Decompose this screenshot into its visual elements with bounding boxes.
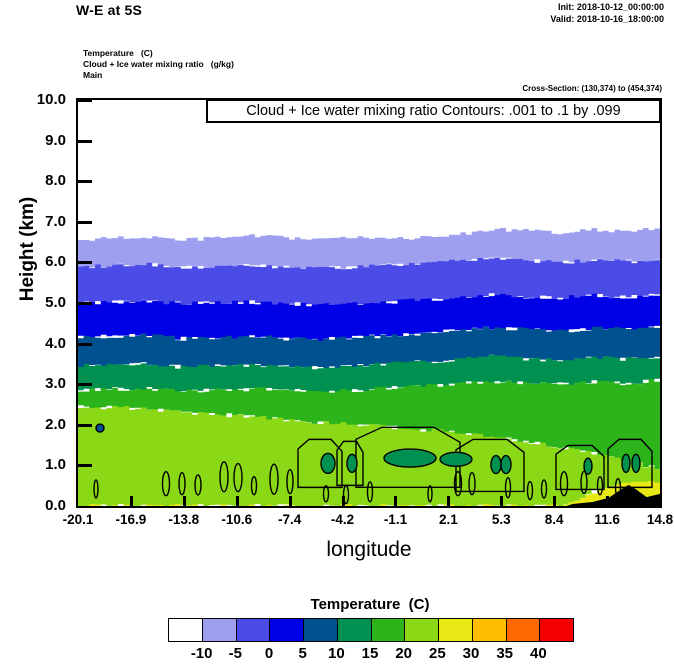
- y-tick-mark: [78, 180, 92, 183]
- cross-section-label: Cross-Section: (130,374) to (454,374): [522, 84, 662, 93]
- x-tick-label: -13.8: [154, 512, 214, 527]
- x-tick-label: 11.6: [577, 512, 637, 527]
- cloud-contour: [440, 452, 472, 466]
- x-tick-label: 14.8: [630, 512, 674, 527]
- y-tick-label: 6.0: [6, 254, 66, 269]
- y-tick-mark: [78, 383, 92, 386]
- contour-title-text: Cloud + Ice water mixing ratio Contours:…: [246, 103, 620, 119]
- y-tick-label: 2.0: [6, 417, 66, 432]
- cloud-contour: [491, 456, 501, 474]
- y-tick-mark: [78, 343, 92, 346]
- colorbar-swatch: [304, 619, 338, 641]
- colorbar-swatch: [473, 619, 507, 641]
- field-line-temperature: Temperature (C): [83, 48, 234, 59]
- x-tick-mark: [394, 496, 397, 508]
- y-tick-label: 7.0: [6, 214, 66, 229]
- x-tick-mark: [553, 496, 556, 508]
- field-line-mixing-ratio: Cloud + Ice water mixing ratio (g/kg): [83, 59, 234, 70]
- init-time-label: Init: 2018-10-12_00:00:00: [558, 2, 664, 12]
- valid-time-label: Valid: 2018-10-16_18:00:00: [550, 14, 664, 24]
- y-tick-label: 8.0: [6, 173, 66, 188]
- colorbar-swatch: [203, 619, 237, 641]
- colorbar-swatch: [507, 619, 541, 641]
- x-tick-mark: [236, 496, 239, 508]
- y-tick-label: 9.0: [6, 133, 66, 148]
- x-tick-label: 2.1: [418, 512, 478, 527]
- cloud-contour: [384, 449, 436, 467]
- y-tick-label: 3.0: [6, 376, 66, 391]
- colorbar-swatch: [405, 619, 439, 641]
- colorbar: [168, 618, 574, 642]
- cloud-contour: [96, 424, 104, 432]
- cloud-contour: [347, 454, 357, 472]
- cross-section-plot: [76, 98, 662, 508]
- colorbar-swatch: [540, 619, 573, 641]
- y-tick-mark: [78, 99, 92, 102]
- colorbar-swatch: [439, 619, 473, 641]
- x-tick-label: -16.9: [101, 512, 161, 527]
- colorbar-tick-label: 40: [518, 645, 558, 662]
- y-tick-mark: [78, 140, 92, 143]
- cloud-contour: [501, 456, 511, 474]
- x-tick-label: 8.4: [524, 512, 584, 527]
- y-tick-label: 1.0: [6, 457, 66, 472]
- y-tick-mark: [78, 464, 92, 467]
- cloud-contour: [321, 453, 335, 473]
- y-tick-label: 10.0: [6, 92, 66, 107]
- cloud-contour: [584, 458, 592, 474]
- y-tick-mark: [78, 424, 92, 427]
- x-tick-label: -1.1: [365, 512, 425, 527]
- x-tick-mark: [500, 496, 503, 508]
- page-title: W-E at 5S: [76, 2, 142, 18]
- x-tick-label: -4.2: [313, 512, 373, 527]
- y-tick-mark: [78, 221, 92, 224]
- colorbar-swatch: [338, 619, 372, 641]
- colorbar-swatch: [169, 619, 203, 641]
- x-axis-title: longitude: [76, 538, 662, 562]
- x-tick-mark: [342, 496, 345, 508]
- field-line-domain: Main: [83, 70, 234, 81]
- y-tick-mark: [78, 302, 92, 305]
- colorbar-swatch: [237, 619, 271, 641]
- x-tick-label: -7.4: [260, 512, 320, 527]
- y-tick-label: 4.0: [6, 336, 66, 351]
- x-tick-mark: [289, 496, 292, 508]
- x-tick-label: -10.6: [207, 512, 267, 527]
- colorbar-title: Temperature (C): [160, 596, 580, 613]
- colorbar-swatch: [270, 619, 304, 641]
- contour-title-box: Cloud + Ice water mixing ratio Contours:…: [206, 99, 661, 123]
- y-tick-label: 5.0: [6, 295, 66, 310]
- cloud-contour: [632, 454, 640, 472]
- contour-fill-canvas: [78, 100, 660, 506]
- cloud-contour: [622, 454, 630, 472]
- field-description: Temperature (C) Cloud + Ice water mixing…: [83, 48, 234, 81]
- x-tick-mark: [447, 496, 450, 508]
- x-tick-mark: [183, 496, 186, 508]
- colorbar-swatch: [372, 619, 406, 641]
- x-tick-label: 5.3: [471, 512, 531, 527]
- y-tick-mark: [78, 261, 92, 264]
- x-tick-mark: [130, 496, 133, 508]
- y-tick-label: 0.0: [6, 498, 66, 513]
- x-tick-mark: [606, 496, 609, 508]
- x-tick-label: -20.1: [48, 512, 108, 527]
